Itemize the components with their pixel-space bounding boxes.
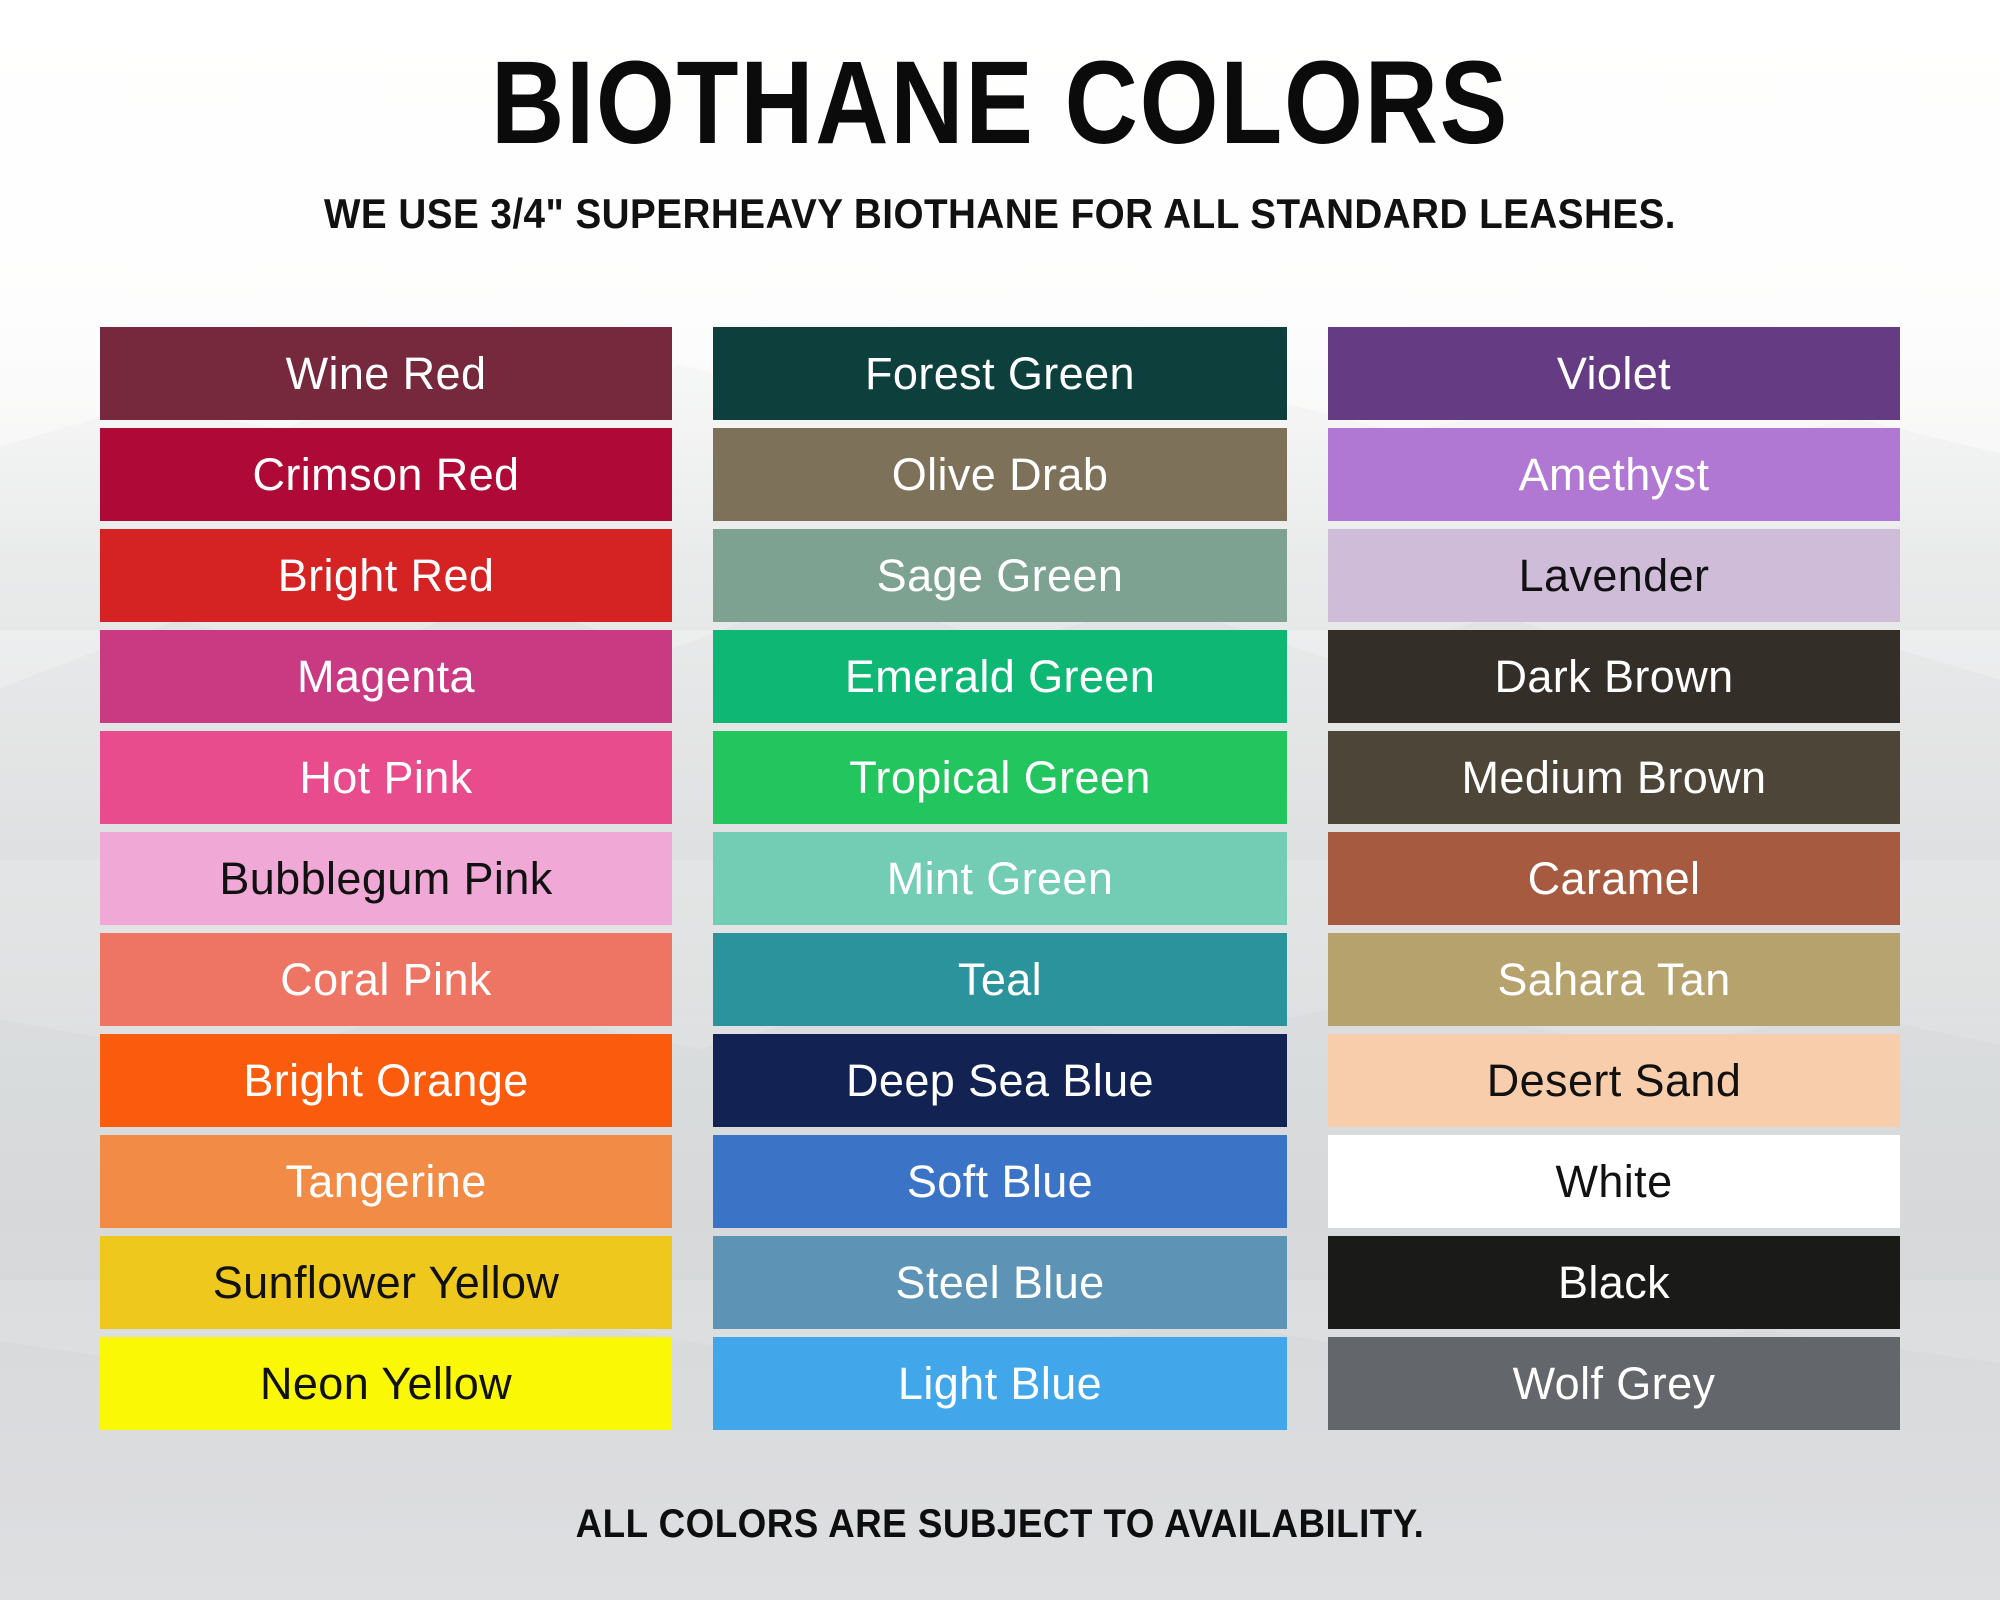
color-swatch-label: Desert Sand [1487,1058,1742,1103]
color-swatch-label: Deep Sea Blue [846,1058,1154,1103]
color-swatch-label: Sahara Tan [1497,957,1730,1002]
color-swatch-label: Neon Yellow [260,1361,512,1406]
column-purples-browns-neutrals: VioletAmethystLavenderDark BrownMedium B… [1328,327,1900,1430]
page-subtitle: WE USE 3/4" SUPERHEAVY BIOTHANE FOR ALL … [80,190,1920,238]
color-swatch[interactable]: Light Blue [713,1337,1287,1430]
color-swatch-label: Teal [958,957,1042,1002]
color-swatch[interactable]: Lavender [1328,529,1900,622]
color-swatch[interactable]: Neon Yellow [100,1337,672,1430]
page-title: BIOTHANE COLORS [140,44,1860,162]
color-swatch[interactable]: Teal [713,933,1287,1026]
color-swatch-label: Coral Pink [280,957,492,1002]
color-swatch-label: Caramel [1528,856,1701,901]
color-swatch-label: Tangerine [285,1159,486,1204]
color-swatch-label: Bubblegum Pink [219,856,552,901]
color-swatch[interactable]: Steel Blue [713,1236,1287,1329]
color-swatch-label: Crimson Red [253,452,520,497]
color-swatch-label: White [1555,1159,1672,1204]
color-swatch[interactable]: Violet [1328,327,1900,420]
color-swatch[interactable]: Amethyst [1328,428,1900,521]
color-swatch[interactable]: Forest Green [713,327,1287,420]
color-swatch-label: Hot Pink [299,755,472,800]
color-swatch[interactable]: Sunflower Yellow [100,1236,672,1329]
color-swatch-label: Violet [1557,351,1671,396]
color-chart-page: BIOTHANE COLORS WE USE 3/4" SUPERHEAVY B… [0,0,2000,1600]
color-swatch[interactable]: Coral Pink [100,933,672,1026]
color-swatch-label: Magenta [297,654,475,699]
availability-note: ALL COLORS ARE SUBJECT TO AVAILABILITY. [80,1502,1920,1547]
color-swatch[interactable]: Caramel [1328,832,1900,925]
color-swatch[interactable]: Mint Green [713,832,1287,925]
color-swatch[interactable]: Crimson Red [100,428,672,521]
color-swatch[interactable]: Medium Brown [1328,731,1900,824]
color-swatch[interactable]: Wine Red [100,327,672,420]
color-swatch-label: Tropical Green [849,755,1151,800]
color-swatch[interactable]: Hot Pink [100,731,672,824]
color-swatch-label: Emerald Green [845,654,1155,699]
color-swatch-label: Bright Red [278,553,495,598]
color-swatch[interactable]: Sage Green [713,529,1287,622]
color-swatch[interactable]: Olive Drab [713,428,1287,521]
color-swatch[interactable]: Bright Red [100,529,672,622]
column-greens-blues: Forest GreenOlive DrabSage GreenEmerald … [713,327,1287,1430]
color-swatch-label: Black [1558,1260,1670,1305]
color-swatch-label: Soft Blue [907,1159,1093,1204]
color-swatch[interactable]: Soft Blue [713,1135,1287,1228]
color-swatch-grid: Wine RedCrimson RedBright RedMagentaHot … [100,327,1900,1430]
color-swatch[interactable]: Magenta [100,630,672,723]
color-swatch-label: Light Blue [898,1361,1102,1406]
color-swatch-label: Wolf Grey [1513,1361,1716,1406]
color-swatch[interactable]: Bright Orange [100,1034,672,1127]
color-swatch[interactable]: Bubblegum Pink [100,832,672,925]
color-swatch[interactable]: Tropical Green [713,731,1287,824]
color-swatch[interactable]: Tangerine [100,1135,672,1228]
color-swatch-label: Sage Green [877,553,1124,598]
color-swatch-label: Steel Blue [895,1260,1104,1305]
color-swatch[interactable]: Black [1328,1236,1900,1329]
color-swatch-label: Olive Drab [892,452,1109,497]
color-swatch[interactable]: Dark Brown [1328,630,1900,723]
color-swatch-label: Sunflower Yellow [213,1260,560,1305]
color-swatch[interactable]: Wolf Grey [1328,1337,1900,1430]
color-swatch-label: Amethyst [1519,452,1710,497]
color-swatch[interactable]: Deep Sea Blue [713,1034,1287,1127]
color-swatch-label: Forest Green [865,351,1135,396]
color-swatch[interactable]: White [1328,1135,1900,1228]
color-swatch-label: Bright Orange [243,1058,528,1103]
color-swatch-label: Medium Brown [1462,755,1767,800]
color-swatch-label: Lavender [1519,553,1710,598]
color-swatch[interactable]: Desert Sand [1328,1034,1900,1127]
color-swatch[interactable]: Sahara Tan [1328,933,1900,1026]
color-swatch-label: Mint Green [887,856,1114,901]
color-swatch-label: Wine Red [286,351,487,396]
column-reds-pinks-oranges: Wine RedCrimson RedBright RedMagentaHot … [100,327,672,1430]
color-swatch[interactable]: Emerald Green [713,630,1287,723]
header: BIOTHANE COLORS WE USE 3/4" SUPERHEAVY B… [0,0,2000,238]
color-swatch-label: Dark Brown [1494,654,1733,699]
